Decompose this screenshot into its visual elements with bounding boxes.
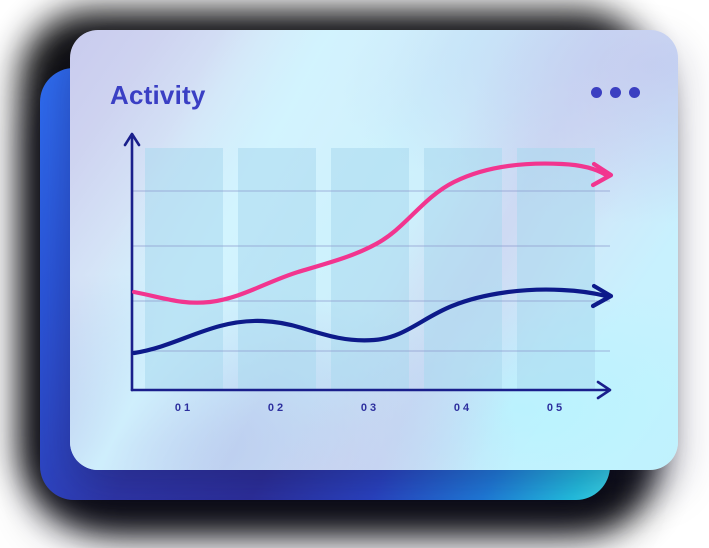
screenshot-root: Activity [0, 0, 709, 548]
x-axis-tick-04: 04 [454, 402, 472, 414]
chart-column-bands [145, 148, 595, 390]
activity-card: Activity [70, 30, 678, 470]
x-axis-tick-05: 05 [547, 402, 565, 414]
x-axis-tick-03: 03 [361, 402, 379, 414]
x-axis-tick-01: 01 [175, 402, 193, 414]
x-axis-tick-02: 02 [268, 402, 286, 414]
